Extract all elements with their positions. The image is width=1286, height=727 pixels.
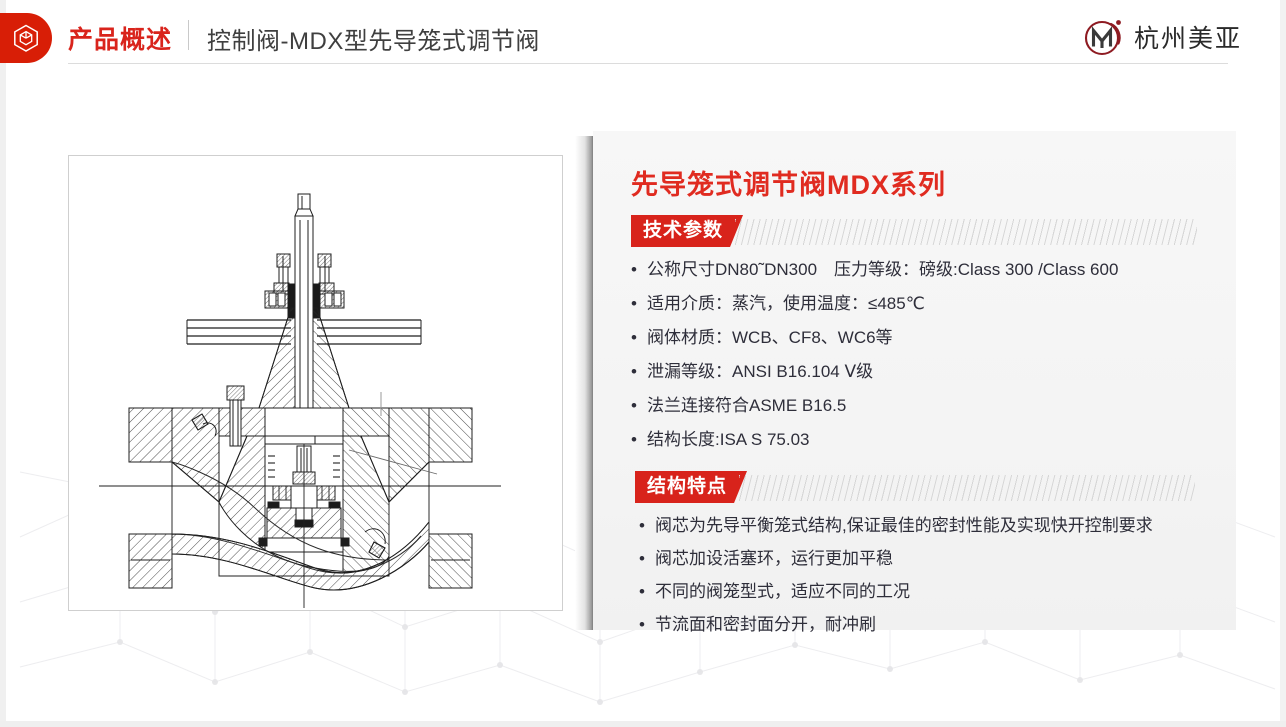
spec-panel: 先导笼式调节阀MDX系列 技术参数 • 公称尺寸DN80˜DN300 压力等级：… — [593, 131, 1236, 630]
list-item: • 节流面和密封面分开，耐冲刷 — [639, 608, 1153, 641]
page-subtitle: 控制阀-MDX型先导笼式调节阀 — [207, 21, 540, 56]
bullet-dot: • — [639, 509, 655, 542]
list-item: • 阀体材质：WCB、CF8、WC6等 — [631, 321, 1118, 355]
tech-spec-list: • 公称尺寸DN80˜DN300 压力等级：磅级:Class 300 /Clas… — [631, 253, 1118, 457]
meiya-m-monogram-icon — [1081, 15, 1125, 59]
bullet-dot: • — [631, 389, 647, 423]
bullet-dot: • — [631, 287, 647, 321]
cube-hexagon-icon — [13, 24, 39, 52]
slide-page: 产品概述 控制阀-MDX型先导笼式调节阀 杭州美亚 — [0, 0, 1286, 727]
list-item: • 适用介质：蒸汽，使用温度：≤485℃ — [631, 287, 1118, 321]
bullet-dot: • — [631, 321, 647, 355]
list-item: • 阀芯为先导平衡笼式结构,保证最佳的密封性能及实现快开控制要求 — [639, 509, 1153, 542]
valve-cross-section-drawing — [69, 156, 562, 610]
bullet-dot: • — [631, 253, 647, 287]
section-tag-features: 结构特点 — [635, 471, 747, 503]
list-item: • 结构长度:ISA S 75.03 — [631, 423, 1118, 457]
bullet-dot: • — [639, 575, 655, 608]
section-hatch-rule — [735, 219, 1197, 245]
list-item: • 不同的阀笼型式，适应不同的工况 — [639, 575, 1153, 608]
bullet-dot: • — [631, 355, 647, 389]
section-tag-tech: 技术参数 — [631, 215, 743, 247]
brand-mark — [1081, 15, 1125, 59]
section-header-features: 结构特点 — [635, 471, 1195, 503]
list-item: • 泄漏等级：ANSI B16.104 Ⅴ级 — [631, 355, 1118, 389]
list-item: • 公称尺寸DN80˜DN300 压力等级：磅级:Class 300 /Clas… — [631, 253, 1118, 287]
page-left-edge — [0, 0, 6, 727]
section-header-tech: 技术参数 — [631, 215, 1197, 247]
list-item: • 法兰连接符合ASME B16.5 — [631, 389, 1118, 423]
bullet-dot: • — [639, 542, 655, 575]
page-bottom-edge — [0, 721, 1286, 727]
list-item: • 阀芯加设活塞环，运行更加平稳 — [639, 542, 1153, 575]
page-title: 产品概述 — [68, 20, 172, 56]
header-rule — [68, 63, 1228, 64]
brand-name: 杭州美亚 — [1134, 19, 1242, 55]
product-series-title: 先导笼式调节阀MDX系列 — [631, 163, 946, 202]
structure-feature-list: • 阀芯为先导平衡笼式结构,保证最佳的密封性能及实现快开控制要求 • 阀芯加设活… — [639, 509, 1153, 641]
valve-drawing-frame — [68, 155, 563, 611]
page-right-edge — [1280, 0, 1286, 727]
brand-logo: 杭州美亚 — [1081, 14, 1242, 60]
bullet-dot: • — [639, 608, 655, 641]
page-header: 产品概述 控制阀-MDX型先导笼式调节阀 杭州美亚 — [0, 0, 1286, 76]
section-hatch-rule — [739, 475, 1195, 501]
header-badge — [0, 13, 52, 63]
header-divider — [188, 20, 189, 50]
panel-left-shadow — [575, 136, 593, 630]
bullet-dot: • — [631, 423, 647, 457]
